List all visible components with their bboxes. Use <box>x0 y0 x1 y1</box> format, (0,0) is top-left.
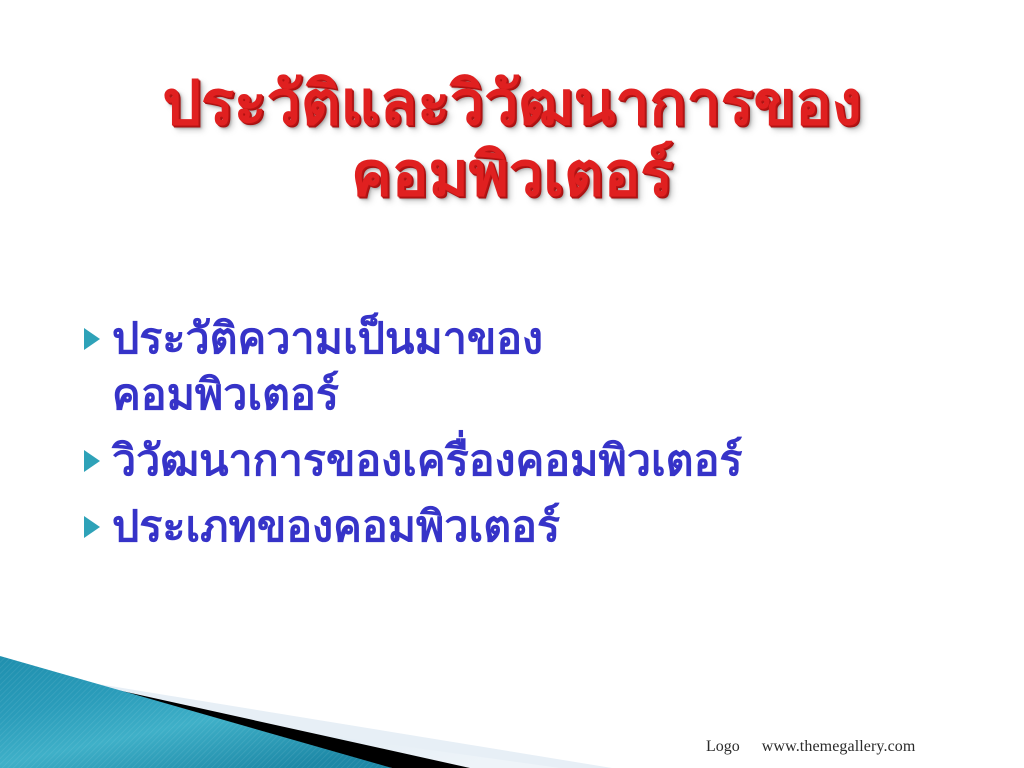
corner-decoration <box>0 628 660 768</box>
triangle-right-icon <box>82 312 112 350</box>
bullet-item-label-1: ประวัติความเป็นมาของ คอมพิวเตอร์ <box>112 312 712 424</box>
triangle-right-icon <box>82 500 112 538</box>
deco-pale-band <box>0 676 608 768</box>
deco-black-stripe <box>0 664 470 768</box>
deco-pale-band-2 <box>0 668 612 768</box>
footer-logo-label: Logo <box>706 738 740 756</box>
bullet-item-label-3: ประเภทของคอมพิวเตอร์ <box>112 500 982 556</box>
list-item[interactable]: ประเภทของคอมพิวเตอร์ <box>82 500 982 556</box>
title-line-2: คอมพิวเตอร์ <box>0 141 1024 212</box>
footer-url[interactable]: www.themegallery.com <box>762 738 916 756</box>
bullet-item-label-2: วิวัฒนาการของเครื่องคอมพิวเตอร์ <box>112 434 982 490</box>
list-item[interactable]: วิวัฒนาการของเครื่องคอมพิวเตอร์ <box>82 434 982 490</box>
deco-teal-hatch <box>0 656 392 768</box>
slide-canvas: ประวัติและวิวัฒนาการของ คอมพิวเตอร์ ประว… <box>0 0 1024 768</box>
list-item[interactable]: ประวัติความเป็นมาของ คอมพิวเตอร์ <box>82 312 982 424</box>
footer: Logo www.themegallery.com <box>706 735 1016 759</box>
deco-teal-triangle <box>0 656 392 768</box>
title-line-1: ประวัติและวิวัฒนาการของ <box>0 70 1024 141</box>
bullet-list: ประวัติความเป็นมาของ คอมพิวเตอร์ วิวัฒนา… <box>82 312 982 566</box>
slide-title: ประวัติและวิวัฒนาการของ คอมพิวเตอร์ <box>0 70 1024 212</box>
triangle-right-icon <box>82 434 112 472</box>
